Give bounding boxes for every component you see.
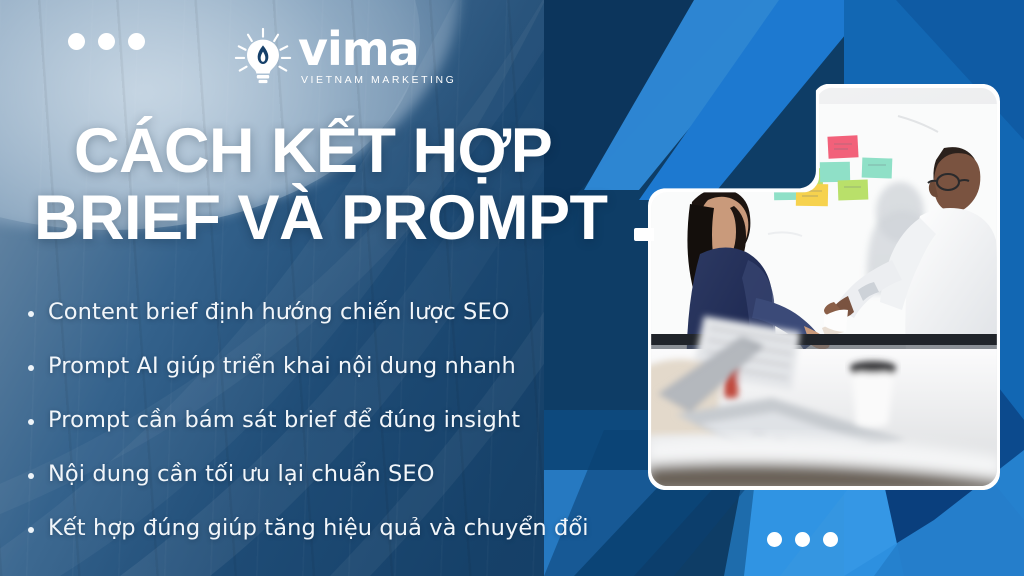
page-title: CÁCH KẾT HỢP BRIEF VÀ PROMPT (74, 122, 724, 247)
list-item-label: Prompt AI giúp triển khai nội dung nhanh (48, 354, 516, 380)
decor-dot (823, 532, 838, 547)
bullet-dot-icon (28, 527, 34, 533)
list-item-label: Kết hợp đúng giúp tăng hiệu quả và chuyể… (48, 516, 589, 542)
list-item: Kết hợp đúng giúp tăng hiệu quả và chuyể… (18, 516, 678, 542)
decor-dot (767, 532, 782, 547)
list-item: Prompt AI giúp triển khai nội dung nhanh (18, 354, 678, 380)
list-item: Prompt cần bám sát brief để đúng insight (18, 408, 678, 434)
decor-dot (795, 532, 810, 547)
list-item: Nội dung cần tối ưu lại chuẩn SEO (18, 462, 678, 488)
decor-dot (98, 33, 115, 50)
lightbulb-idea-icon (232, 26, 294, 88)
list-item-label: Nội dung cần tối ưu lại chuẩn SEO (48, 462, 435, 488)
title-line-2: BRIEF VÀ PROMPT (34, 189, 724, 248)
decor-dot (68, 33, 85, 50)
list-item: Content brief định hướng chiến lược SEO (18, 300, 678, 326)
slide-canvas: vima VIETNAM MARKETING CÁCH KẾT HỢP BRIE… (0, 0, 1024, 576)
decor-dot (128, 33, 145, 50)
list-item-label: Prompt cần bám sát brief để đúng insight (48, 408, 520, 434)
brand-name: vima (298, 28, 456, 72)
key-points-list: Content brief định hướng chiến lược SEO … (18, 300, 678, 541)
bullet-dot-icon (28, 365, 34, 371)
bullet-dot-icon (28, 473, 34, 479)
decor-dots-bottom-right (767, 532, 838, 547)
list-item-label: Content brief định hướng chiến lược SEO (48, 300, 510, 326)
brand-logo[interactable]: vima VIETNAM MARKETING (232, 26, 456, 88)
title-line-1: CÁCH KẾT HỢP (74, 116, 552, 186)
bullet-dot-icon (28, 419, 34, 425)
decor-dots-top-left (68, 33, 145, 50)
brand-tagline: VIETNAM MARKETING (298, 74, 456, 86)
bullet-dot-icon (28, 311, 34, 317)
